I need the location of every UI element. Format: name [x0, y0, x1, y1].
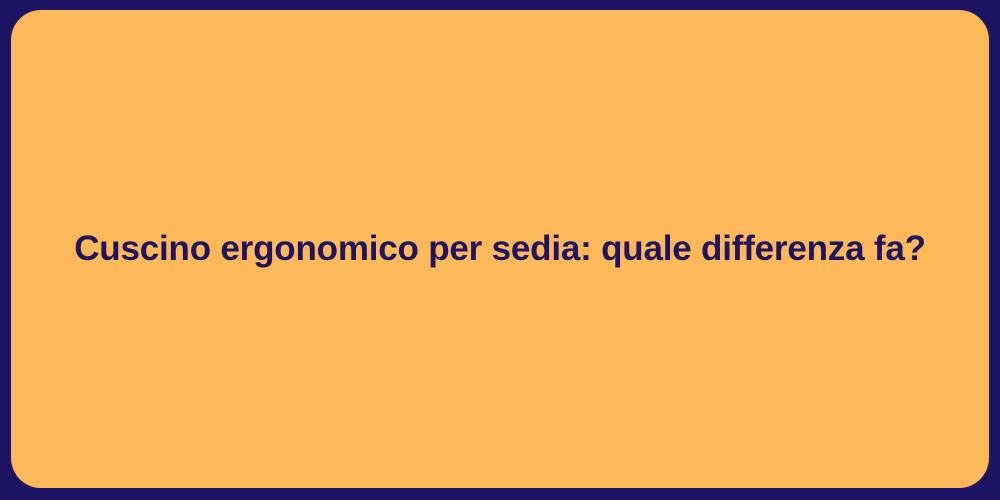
banner-root: Cuscino ergonomico per sedia: quale diff…: [0, 0, 1000, 500]
page-title: Cuscino ergonomico per sedia: quale diff…: [34, 228, 966, 270]
banner-card: Cuscino ergonomico per sedia: quale diff…: [11, 10, 989, 488]
